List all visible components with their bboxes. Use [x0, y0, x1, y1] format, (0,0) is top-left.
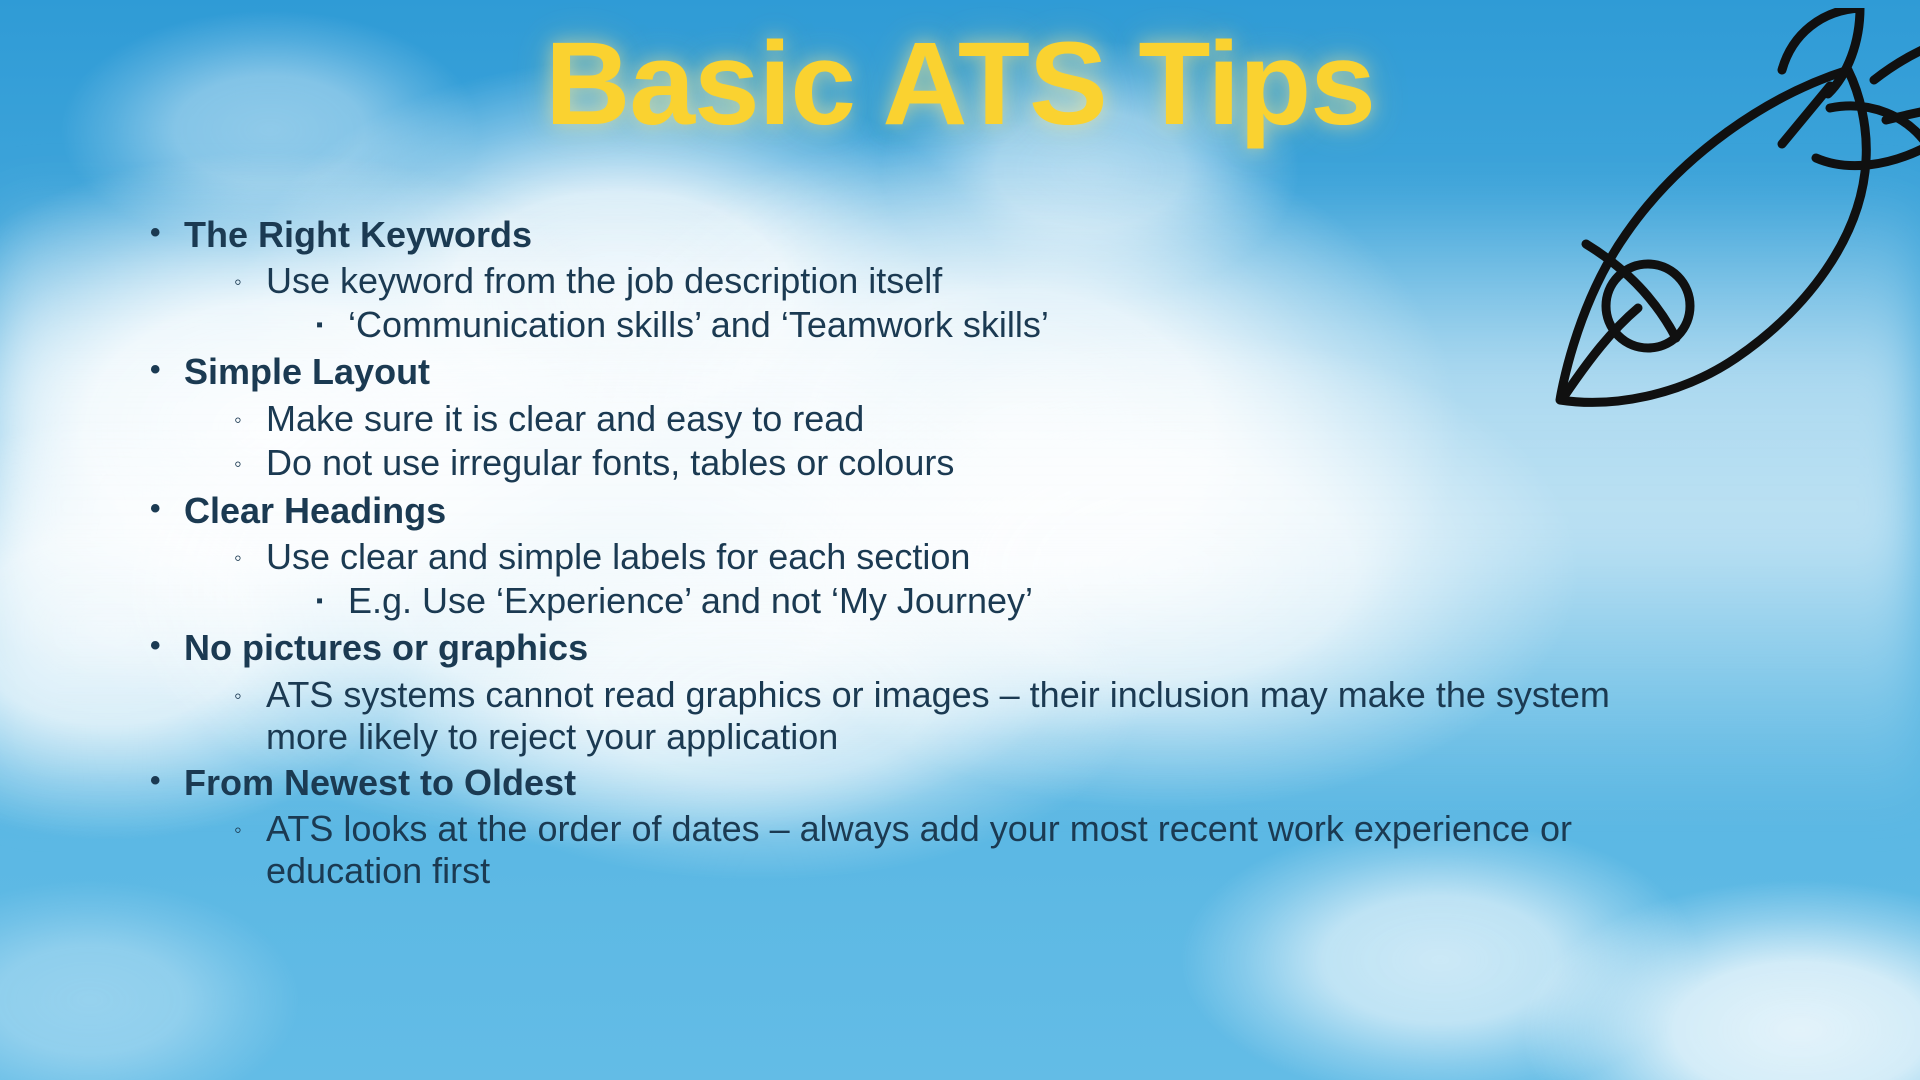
- list-item-text: The Right Keywords: [184, 210, 1850, 260]
- list-item-text: E.g. Use ‘Experience’ and not ‘My Journe…: [348, 580, 1768, 622]
- list-item: ◦ ATS looks at the order of dates – alwa…: [234, 808, 1850, 892]
- bullet-circle-icon: ◦: [234, 442, 266, 486]
- list-item: ▪ E.g. Use ‘Experience’ and not ‘My Jour…: [316, 580, 1850, 623]
- list-item-text: ‘Communication skills’ and ‘Teamwork ski…: [348, 304, 1768, 346]
- bullet-disc-icon: •: [150, 347, 184, 394]
- list-item-text: No pictures or graphics: [184, 623, 1850, 673]
- bullet-disc-icon: •: [150, 623, 184, 670]
- list-item: ◦ Use clear and simple labels for each s…: [234, 536, 1850, 580]
- bullet-outline: • The Right Keywords ◦ Use keyword from …: [150, 210, 1850, 892]
- list-item: ◦ Do not use irregular fonts, tables or …: [234, 442, 1850, 486]
- list-item: • The Right Keywords: [150, 210, 1850, 260]
- list-item: ◦ ATS systems cannot read graphics or im…: [234, 674, 1850, 758]
- bullet-disc-icon: •: [150, 758, 184, 805]
- list-item: • From Newest to Oldest: [150, 758, 1850, 808]
- list-item-text: Do not use irregular fonts, tables or co…: [266, 442, 1686, 484]
- list-item-text: Use clear and simple labels for each sec…: [266, 536, 1686, 578]
- list-item: • No pictures or graphics: [150, 623, 1850, 673]
- bullet-circle-icon: ◦: [234, 674, 266, 718]
- bullet-disc-icon: •: [150, 210, 184, 257]
- list-item: ◦ Make sure it is clear and easy to read: [234, 398, 1850, 442]
- list-item-text: Make sure it is clear and easy to read: [266, 398, 1686, 440]
- list-item-text: Clear Headings: [184, 486, 1850, 536]
- bullet-square-icon: ▪: [316, 580, 348, 623]
- list-item: • Simple Layout: [150, 347, 1850, 397]
- cloud-shape: [0, 880, 300, 1080]
- bullet-circle-icon: ◦: [234, 808, 266, 852]
- list-item-text: ATS systems cannot read graphics or imag…: [266, 674, 1686, 758]
- list-item-text: From Newest to Oldest: [184, 758, 1850, 808]
- list-item: ▪ ‘Communication skills’ and ‘Teamwork s…: [316, 304, 1850, 347]
- presentation-slide: Basic ATS Tips • The Right Keywords ◦ Us…: [0, 0, 1920, 1080]
- list-item-text: ATS looks at the order of dates – always…: [266, 808, 1686, 892]
- list-item-text: Use keyword from the job description its…: [266, 260, 1686, 302]
- bullet-disc-icon: •: [150, 486, 184, 533]
- list-item: • Clear Headings: [150, 486, 1850, 536]
- list-item-text: Simple Layout: [184, 347, 1850, 397]
- bullet-circle-icon: ◦: [234, 260, 266, 304]
- page-title: Basic ATS Tips: [0, 16, 1920, 152]
- bullet-circle-icon: ◦: [234, 398, 266, 442]
- bullet-circle-icon: ◦: [234, 536, 266, 580]
- bullet-square-icon: ▪: [316, 304, 348, 347]
- list-item: ◦ Use keyword from the job description i…: [234, 260, 1850, 304]
